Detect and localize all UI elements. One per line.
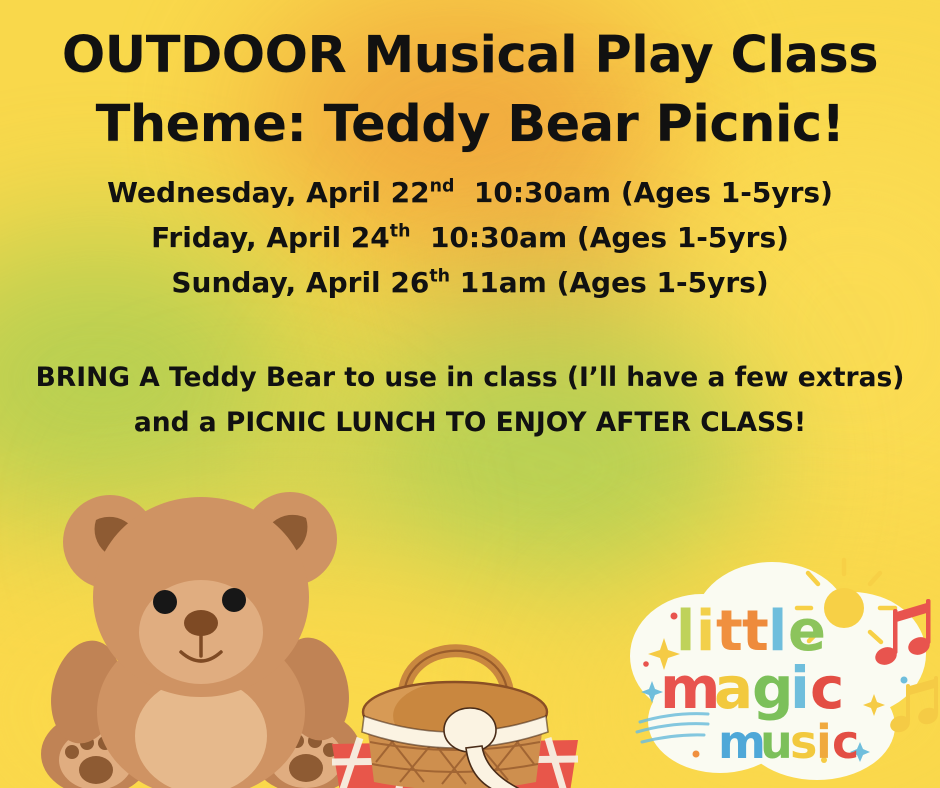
schedule-time-3: 11am <box>460 266 547 299</box>
logo-word-magic: m a g i c <box>660 654 844 722</box>
svg-text:m: m <box>660 654 720 722</box>
picnic-basket-illustration <box>320 612 590 788</box>
svg-text:m: m <box>718 715 766 769</box>
little-magic-music-logo[interactable]: l i t t l e m a g i c m u s i c <box>612 546 940 788</box>
schedule-time-2: 10:30am <box>430 221 567 254</box>
headline-primary: OUTDOOR Musical Play Class <box>0 0 940 83</box>
schedule-ordinal-3: th <box>429 267 450 287</box>
schedule-ages-3: (Ages 1-5yrs) <box>557 266 769 299</box>
headline-secondary: Theme: Teddy Bear Picnic! <box>0 83 940 152</box>
bear-eye-right <box>222 588 246 612</box>
poster-text-block: OUTDOOR Musical Play Class Theme: Teddy … <box>0 0 940 436</box>
logo-word-music: m u s i c <box>718 715 859 769</box>
svg-text:c: c <box>810 654 844 722</box>
svg-text:c: c <box>832 715 859 769</box>
schedule-row-1: Wednesday, April 22nd 10:30am (Ages 1-5y… <box>0 151 940 207</box>
svg-text:g: g <box>752 654 794 722</box>
schedule-day-1: Wednesday, April 22 <box>107 176 429 209</box>
schedule-time-1: 10:30am <box>474 176 611 209</box>
schedule-row-2: Friday, April 24th 10:30am (Ages 1-5yrs) <box>0 207 940 252</box>
instruction-line-2: and a PICNIC LUNCH TO ENJOY AFTER CLASS! <box>0 392 940 437</box>
schedule-day-3: Sunday, April 26 <box>171 266 429 299</box>
poster-canvas: OUTDOOR Musical Play Class Theme: Teddy … <box>0 0 940 788</box>
svg-text:u: u <box>760 715 793 769</box>
bear-nose <box>184 610 218 636</box>
svg-text:s: s <box>790 715 817 769</box>
schedule-ages-1: (Ages 1-5yrs) <box>621 176 833 209</box>
schedule-day-2: Friday, April 24 <box>151 221 390 254</box>
svg-text:i: i <box>816 715 832 769</box>
bear-eye-left <box>153 590 177 614</box>
basket-knot <box>444 708 496 752</box>
schedule-row-3: Sunday, April 26th 11am (Ages 1-5yrs) <box>0 252 940 297</box>
schedule-ordinal-1: nd <box>430 177 455 197</box>
svg-text:i: i <box>790 654 810 722</box>
svg-text:a: a <box>714 654 753 722</box>
instruction-line-1: BRING A Teddy Bear to use in class (I’ll… <box>0 297 940 392</box>
schedule-ordinal-2: th <box>390 222 411 242</box>
schedule-ages-2: (Ages 1-5yrs) <box>577 221 789 254</box>
